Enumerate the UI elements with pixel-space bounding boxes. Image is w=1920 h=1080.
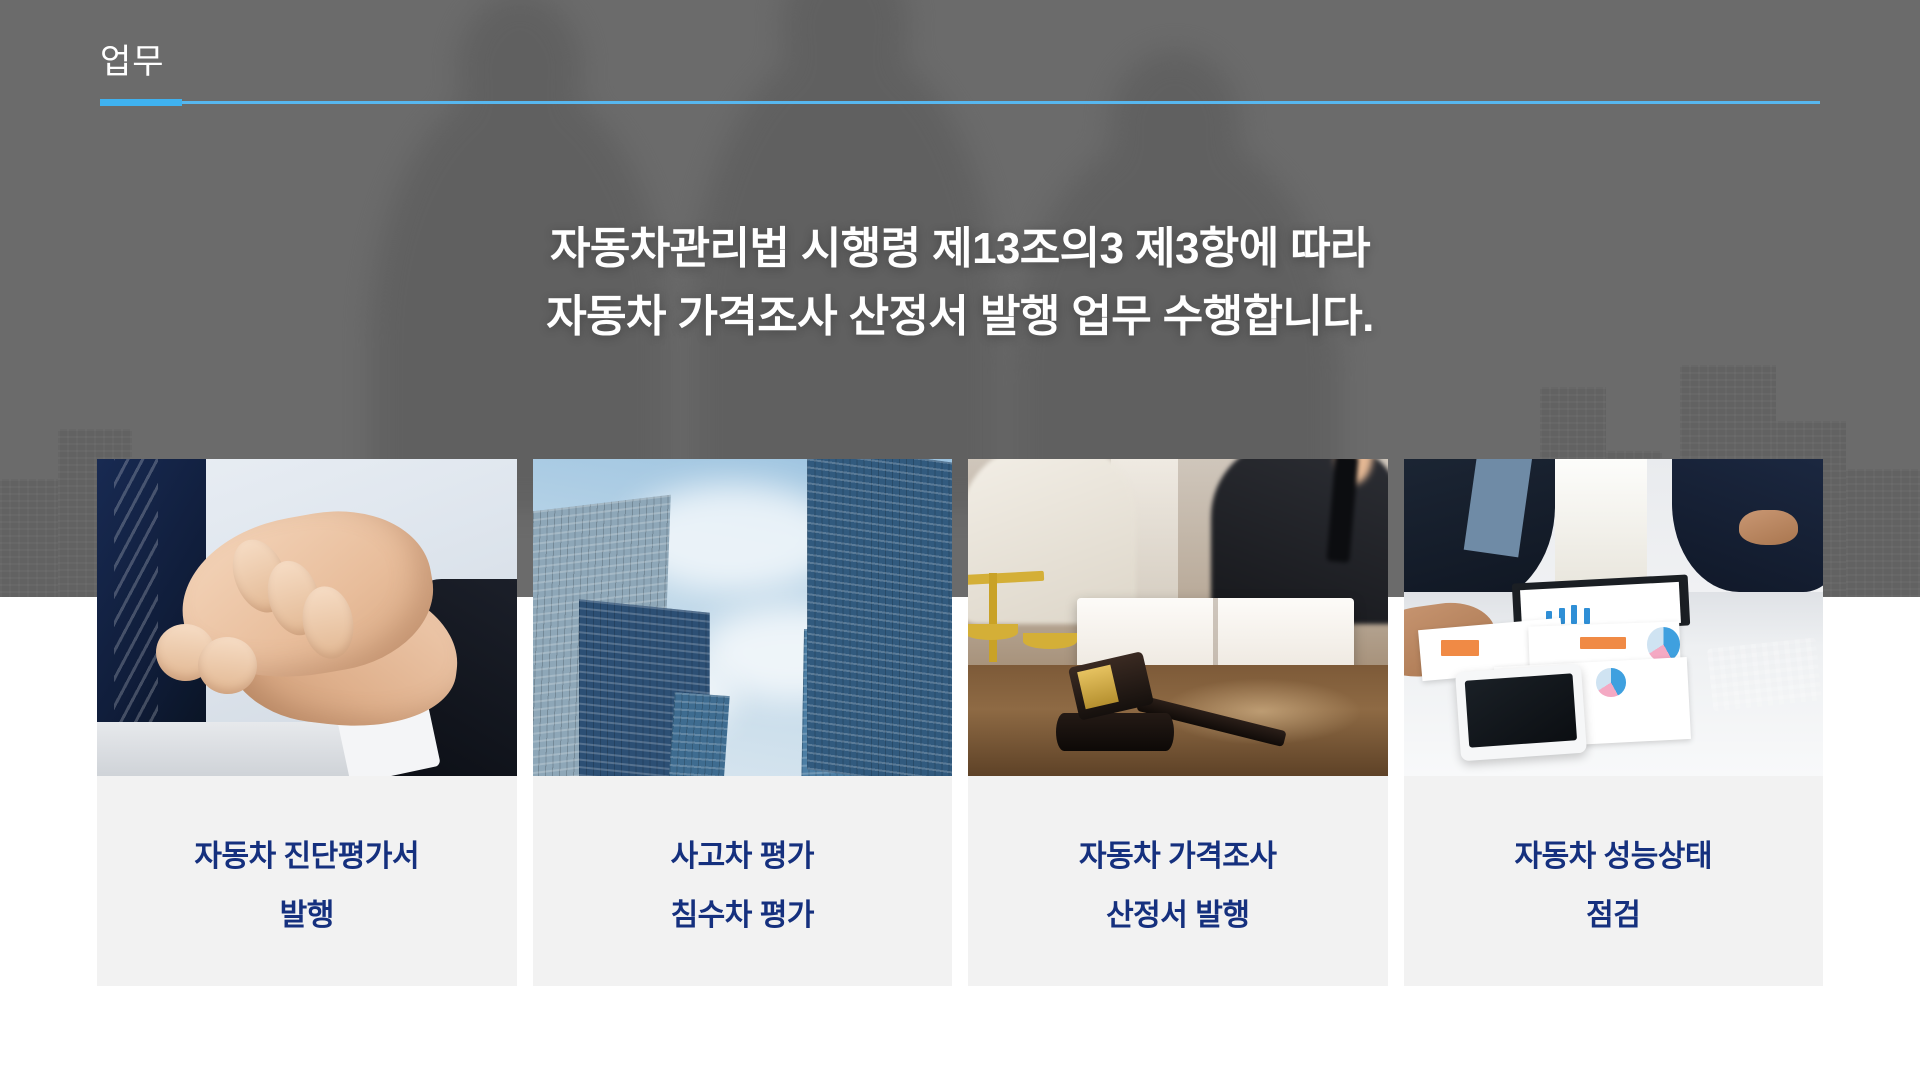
title-underline-accent xyxy=(100,99,182,106)
headline-line-2: 자동차 가격조사 산정서 발행 업무 수행합니다. xyxy=(0,283,1920,351)
card-caption-line-2: 발행 xyxy=(280,887,334,946)
gavel-sound-block xyxy=(1056,713,1173,751)
skyscrapers-photo xyxy=(533,459,953,776)
card-caption-line-2: 산정서 발행 xyxy=(1106,887,1249,946)
business-charts-photo xyxy=(1404,459,1824,776)
building xyxy=(667,692,729,776)
hand-holding-notebook xyxy=(1739,510,1798,545)
skyline-tower xyxy=(0,479,58,597)
card-caption: 자동차 가격조사 산정서 발행 xyxy=(968,776,1388,986)
slide-page: 업무 자동차관리법 시행령 제13조의3 제3항에 따라 자동차 가격조사 산정… xyxy=(0,0,1920,1080)
service-card[interactable]: 자동차 가격조사 산정서 발행 xyxy=(968,459,1388,986)
card-caption-line-2: 침수차 평가 xyxy=(671,887,814,946)
orange-chart-mark xyxy=(1441,640,1479,656)
orange-chart-mark xyxy=(1580,637,1626,650)
scales-pan xyxy=(1023,633,1078,649)
card-caption: 사고차 평가 침수차 평가 xyxy=(533,776,953,986)
scales-pan xyxy=(968,624,1018,640)
hero-headline: 자동차관리법 시행령 제13조의3 제3항에 따라 자동차 가격조사 산정서 발… xyxy=(0,215,1920,351)
skyline-tower xyxy=(1846,469,1920,597)
card-caption: 자동차 성능상태 점검 xyxy=(1404,776,1824,986)
card-caption-line-2: 점검 xyxy=(1586,887,1640,946)
card-caption-line-1: 사고차 평가 xyxy=(671,828,814,887)
card-caption-line-1: 자동차 진단평가서 xyxy=(194,828,419,887)
headline-line-1: 자동차관리법 시행령 제13조의3 제3항에 따라 xyxy=(0,215,1920,283)
face xyxy=(1335,459,1374,484)
page-title: 업무 xyxy=(100,44,1820,81)
service-card[interactable]: 사고차 평가 침수차 평가 xyxy=(533,459,953,986)
calculator xyxy=(1707,637,1822,711)
service-card-list: 자동차 진단평가서 발행 사고차 평가 침수차 평가 xyxy=(97,459,1823,986)
card-caption-line-1: 자동차 성능상태 xyxy=(1514,828,1712,887)
bar-chart-bar xyxy=(1584,608,1590,624)
service-card[interactable]: 자동차 성능상태 점검 xyxy=(1404,459,1824,986)
handshake-photo xyxy=(97,459,517,776)
window-background xyxy=(1555,459,1647,586)
gavel-law-photo xyxy=(968,459,1388,776)
tablet-device xyxy=(1455,664,1587,761)
service-card[interactable]: 자동차 진단평가서 발행 xyxy=(97,459,517,986)
building xyxy=(808,459,952,776)
card-caption: 자동차 진단평가서 발행 xyxy=(97,776,517,986)
card-caption-line-1: 자동차 가격조사 xyxy=(1079,828,1277,887)
bar-chart-bar xyxy=(1571,605,1577,624)
pie-chart xyxy=(1596,668,1625,697)
scales-post xyxy=(989,573,997,662)
section-header: 업무 xyxy=(100,44,1820,104)
title-underline xyxy=(100,101,1820,104)
